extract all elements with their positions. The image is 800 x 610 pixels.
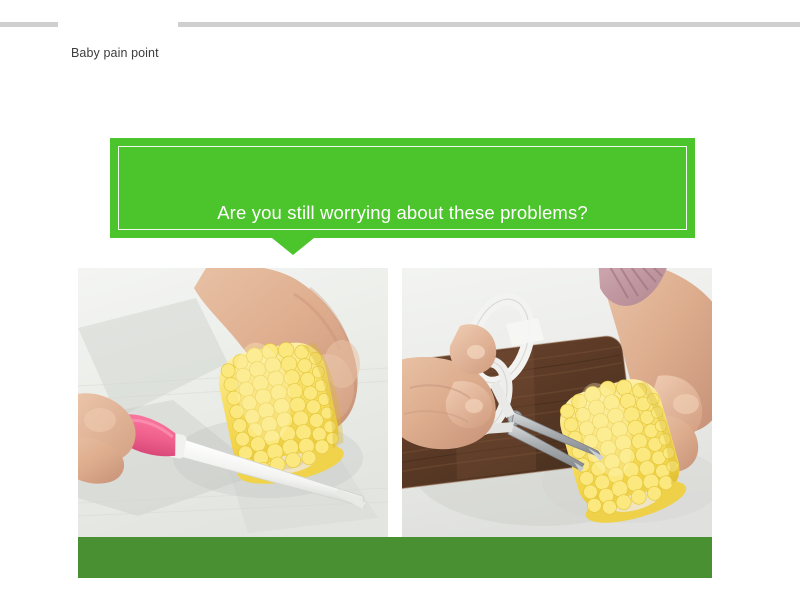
banner-pointer-triangle-icon	[272, 238, 314, 255]
banner-headline: Are you still worrying about these probl…	[110, 201, 695, 225]
page-title: Baby pain point	[71, 45, 159, 61]
bottom-green-band	[78, 537, 712, 578]
photo-corn-cut-with-knife	[78, 268, 388, 537]
top-rule-left	[0, 22, 58, 27]
photo-row	[78, 268, 712, 537]
callout-banner: Are you still worrying about these probl…	[110, 138, 695, 238]
photo-corn-cut-with-scissors	[402, 268, 712, 537]
top-rule-right	[178, 22, 800, 27]
